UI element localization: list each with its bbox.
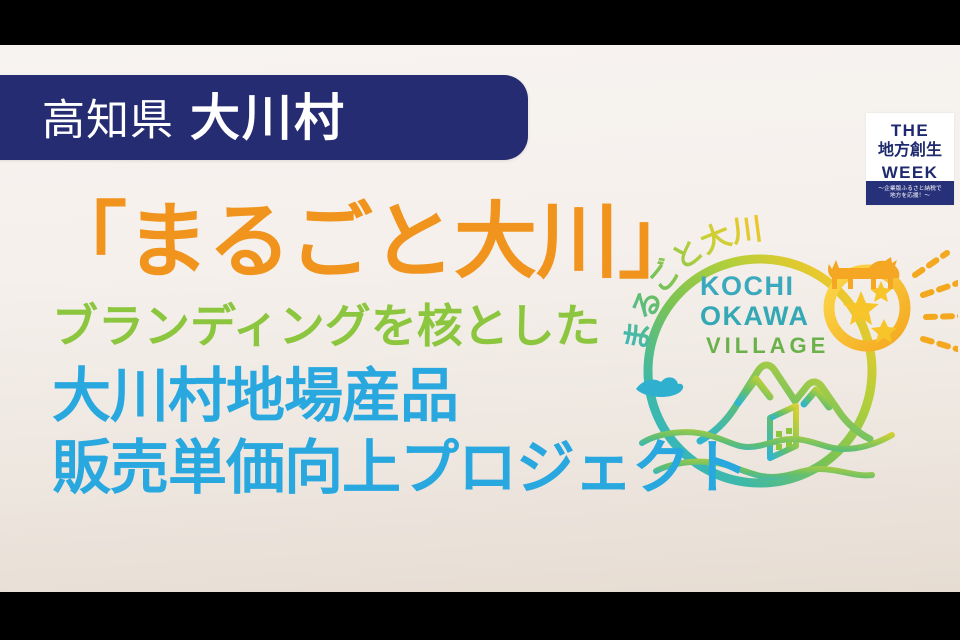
badge-text-group: 高知県 大川村 <box>42 93 346 143</box>
prefecture-village-badge: 高知県 大川村 <box>0 75 528 160</box>
event-logo-jp: 地方創生 <box>878 143 942 159</box>
badge-prefecture-label: 高知県 <box>42 100 174 143</box>
headline-blue-line-2: 販売単価向上プロジェクト <box>52 439 748 498</box>
slide-stage: 高知県 大川村 THE 地方創生 WEEK 〜企業版ふるさと納税で 地方を応援！… <box>0 45 960 592</box>
event-ribbon-line2: 地方を応援！〜 <box>890 193 930 200</box>
headline-main-title: 「まるごと大川」 <box>44 200 748 283</box>
badge-village-label: 大川村 <box>190 93 346 143</box>
letterbox-bar-bottom <box>0 592 960 640</box>
logo-building-icon <box>770 406 796 458</box>
headline-subtitle-green: ブランディングを核とした <box>52 303 748 349</box>
headline-block: 「まるごと大川」 ブランディングを核とした 大川村地場産品 販売単価向上プロジェ… <box>44 200 748 498</box>
letterbox-bar-top <box>0 0 960 45</box>
event-logo-ribbon: 〜企業版ふるさと納税で 地方を応援！〜 <box>866 181 954 205</box>
headline-blue-line-1: 大川村地場産品 <box>52 367 748 426</box>
logo-rays-icon <box>915 253 958 349</box>
event-logo-week: WEEK <box>882 164 939 181</box>
event-logo-the: THE <box>891 122 929 139</box>
presentation-slide: 高知県 大川村 THE 地方創生 WEEK 〜企業版ふるさと納税で 地方を応援！… <box>0 0 960 640</box>
event-ribbon-line1: 〜企業版ふるさと納税で <box>878 186 941 193</box>
event-logo: THE 地方創生 WEEK 〜企業版ふるさと納税で 地方を応援！〜 <box>866 113 954 205</box>
